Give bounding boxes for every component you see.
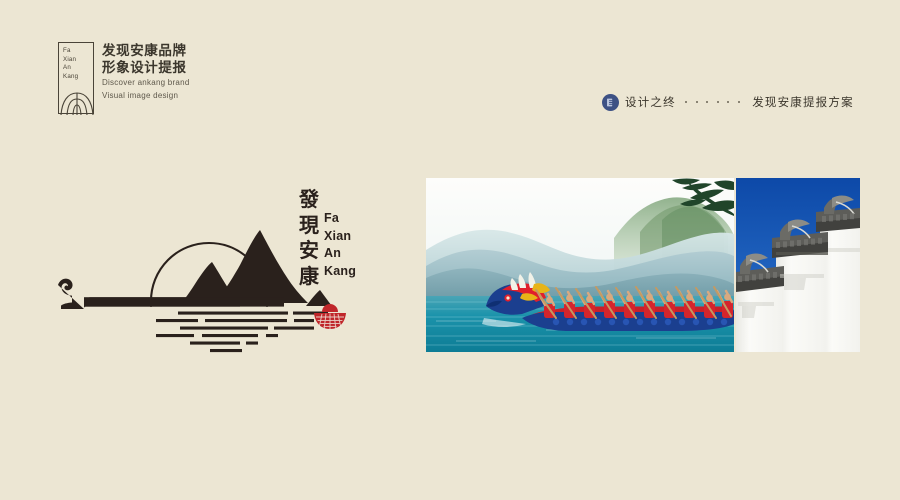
dot-leader — [681, 101, 744, 103]
brand-title-en-1: Discover ankang brand — [102, 78, 190, 89]
slide-section-indicator: 设计之终 发现安康提报方案 — [602, 92, 854, 112]
wordmark-pinyin: Fa Xian An Kang — [324, 210, 356, 280]
image-strip — [426, 178, 860, 352]
wordmark-cn: 發現安康 — [296, 188, 322, 290]
brand-mark-fan-lines-icon — [59, 43, 95, 115]
brand-title-cn-1: 发现安康品牌 — [102, 43, 190, 60]
red-seal-stamp-icon — [314, 304, 346, 329]
wordmark-pinyin-1: Xian — [324, 228, 356, 246]
section-label-left: 设计之终 — [625, 94, 676, 110]
brand-header: Fa Xian An Kang 发现安康品牌 形象设计提报 Discover a… — [58, 42, 190, 114]
dragon-boat-race-photo — [426, 178, 734, 352]
slide-canvas: Fa Xian An Kang 发现安康品牌 形象设计提报 Discover a… — [0, 0, 900, 500]
section-label-right: 发现安康提报方案 — [752, 94, 854, 110]
page-badge-icon — [602, 94, 619, 111]
brand-square-mark-icon: Fa Xian An Kang — [58, 42, 94, 114]
water-lines-icon — [156, 312, 328, 353]
hui-architecture-photo — [736, 178, 860, 352]
wordmark-pinyin-2: An — [324, 245, 356, 263]
wordmark-pinyin-0: Fa — [324, 210, 356, 228]
logo-wordmark: 發現安康 Fa Xian An Kang — [296, 188, 388, 293]
brand-title-cn-2: 形象设计提报 — [102, 60, 190, 77]
brand-text-block: 发现安康品牌 形象设计提报 Discover ankang brand Visu… — [102, 42, 190, 101]
wordmark-pinyin-3: Kang — [324, 263, 356, 281]
brand-title-en-2: Visual image design — [102, 91, 190, 102]
